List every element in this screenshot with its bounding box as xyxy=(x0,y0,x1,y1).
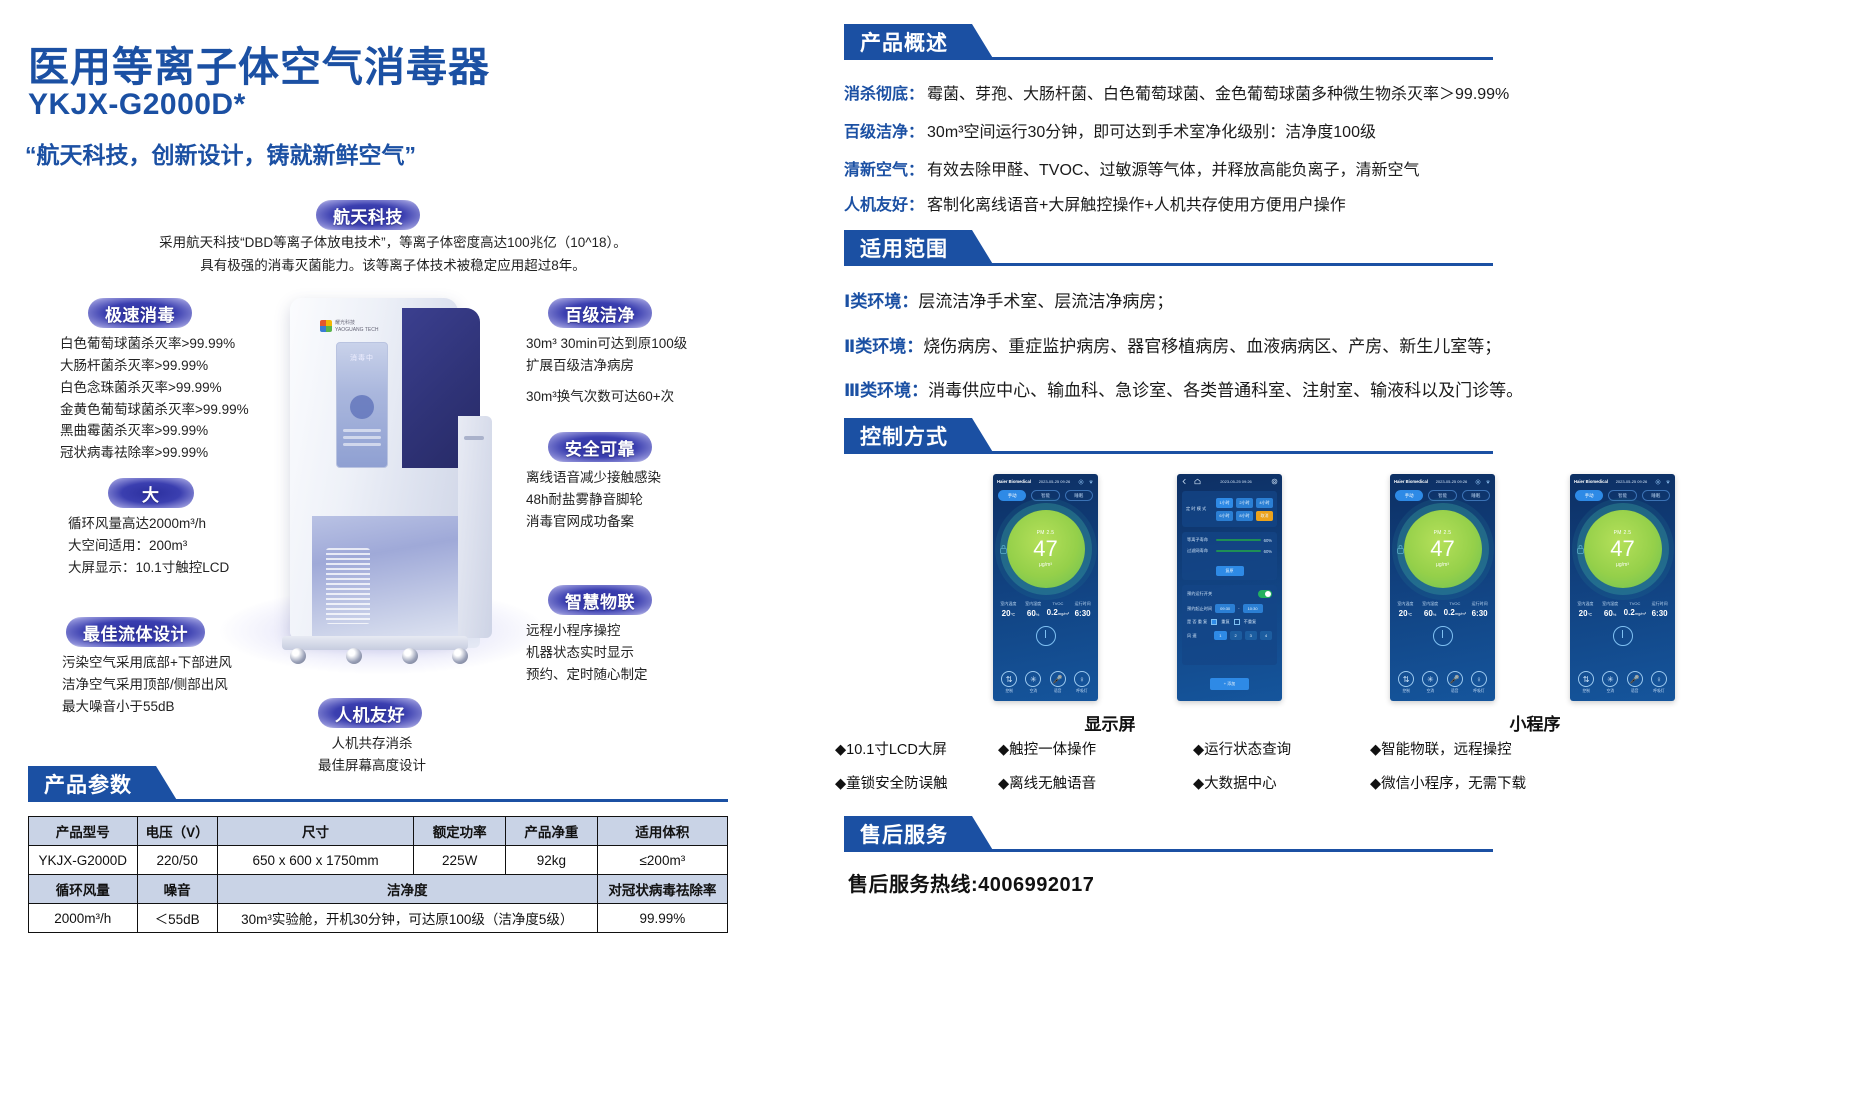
params-table: 产品型号 电压（V） 尺寸 额定功率 产品净重 适用体积 YKJX-G2000D… xyxy=(28,816,728,933)
sterilize-icon[interactable]: ✳ xyxy=(1025,671,1041,687)
table-row: YKJX-G2000D 220/50 650 x 600 x 1750mm 22… xyxy=(29,846,728,875)
fan-level-2[interactable]: 2 xyxy=(1230,631,1242,640)
table-row: 产品型号 电压（V） 尺寸 额定功率 产品净重 适用体积 xyxy=(29,817,728,846)
device-screen-title: 消毒中 xyxy=(337,353,387,363)
feature-line: 大屏显示：10.1寸触控LCD xyxy=(68,557,229,579)
hero-line-1: 采用航天科技“DBD等离子体放电技术”，等离子体密度高达100兆亿（10^18）… xyxy=(128,232,658,255)
action-breathing-lamp[interactable]: ♀呼吸灯 xyxy=(1467,671,1491,694)
wifi-icon xyxy=(1485,479,1491,485)
overview-row: 消杀彻底：霉菌、芽孢、大肠杆菌、白色葡萄球菌、金色葡萄球菌多种微生物杀灭率＞99… xyxy=(844,80,1509,104)
lamp-icon[interactable]: ♀ xyxy=(1471,671,1487,687)
action-label: 呼吸灯 xyxy=(1473,689,1484,694)
fan-level-3[interactable]: 3 xyxy=(1245,631,1257,640)
plasma-life-value: 60% xyxy=(1264,538,1272,543)
feature-line: 污染空气采用底部+下部进风 xyxy=(62,652,232,674)
timer-option-4h[interactable]: 4小时 xyxy=(1256,498,1273,508)
bullet-touch-operation: ◆触控一体操作 xyxy=(998,738,1096,759)
reset-button[interactable]: 复原 xyxy=(1216,566,1244,576)
feature-line: 预约、定时随心制定 xyxy=(526,664,648,686)
gear-icon[interactable] xyxy=(1475,479,1481,485)
metric-unit: mg/m³ xyxy=(1635,611,1646,616)
tablet-status-icons xyxy=(1655,479,1671,485)
metric-label: 室内湿度 xyxy=(1418,601,1443,607)
action-label: 空消 xyxy=(1030,689,1038,694)
metric-value: 60 xyxy=(1424,609,1433,618)
feature-list-smart-iot: 远程小程序操控 机器状态实时显示 预约、定时随心制定 xyxy=(526,620,648,686)
overview-text: 30m³空间运行30分钟，即可达到手术室净化级别：洁净度100级 xyxy=(927,124,1376,141)
tab-sleep[interactable]: 睡眠 xyxy=(1462,490,1490,501)
left-panel: 医用等离子体空气消毒器 YKJX-G2000D* “航天科技，创新设计，铸就新鲜… xyxy=(0,0,812,1112)
repeat-label: 是 否 重 复 xyxy=(1187,619,1207,625)
scope-row: Ⅲ类环境：消毒供应中心、输血科、急诊室、各类普通科室、注射室、输液科以及门诊等。 xyxy=(844,376,1523,401)
microphone-icon[interactable]: 🎤 xyxy=(1447,671,1463,687)
time-from-input[interactable]: 09:30 xyxy=(1215,604,1235,613)
lamp-icon[interactable]: ♀ xyxy=(1074,671,1090,687)
action-label: 语音 xyxy=(1451,689,1459,694)
section-tag-params: 产品参数 xyxy=(28,766,156,802)
brand-name-en: YAOGUANG TECH xyxy=(335,327,378,334)
gear-icon[interactable] xyxy=(1271,478,1278,485)
metric-runtime: 运行时间6:30 xyxy=(1070,601,1095,618)
metric-unit: mg/m³ xyxy=(1455,611,1466,616)
table-header-cell: 尺寸 xyxy=(217,817,414,846)
device-body: 耀光科技 YAOGUANG TECH 消毒中 xyxy=(290,298,458,638)
action-control[interactable]: ⇅控制 xyxy=(1394,671,1418,694)
checkbox-no-repeat[interactable] xyxy=(1234,619,1240,625)
metric-value: 0.2 xyxy=(1444,608,1455,617)
table-row: 2000m³/h ＜55dB 30m³实验舱，开机30分钟，可达原100级（洁净… xyxy=(29,904,728,933)
metric-value: 0.2 xyxy=(1047,608,1058,617)
tablet-brand: Haier Biomedical xyxy=(1574,479,1608,484)
tablet-status-bar: Haier Biomedical 2023-05-25 09:26 xyxy=(997,477,1094,486)
power-button[interactable] xyxy=(1036,626,1056,646)
tablet-status-icons xyxy=(1078,479,1094,485)
service-hotline: 售后服务热线:4006992017 xyxy=(848,868,1094,897)
action-breathing-lamp[interactable]: ♀呼吸灯 xyxy=(1647,671,1671,694)
action-control[interactable]: ⇅控制 xyxy=(997,671,1021,694)
section-rule-scope xyxy=(988,263,1493,266)
metric-label: 室内温度 xyxy=(996,601,1021,607)
section-rule-params xyxy=(172,799,728,802)
section-rule-control xyxy=(988,451,1493,454)
tablet-time: 2023-05-25 09:26 xyxy=(1436,479,1468,484)
tablet-action-buttons[interactable]: ⇅控制 ✳空消 🎤语音 ♀呼吸灯 xyxy=(997,671,1094,694)
tablet-action-buttons[interactable]: ⇅控制 ✳空消 🎤语音 ♀呼吸灯 xyxy=(1574,671,1671,694)
bullet-remote-iot: ◆智能物联，远程操控 xyxy=(1370,738,1512,759)
feature-line: 最大噪音小于55dB xyxy=(62,696,232,718)
brand-logo-text: 耀光科技 YAOGUANG TECH xyxy=(335,320,378,333)
timer-option-2h[interactable]: 2小时 xyxy=(1236,498,1253,508)
tablet-brand: Haier Biomedical xyxy=(1394,479,1428,484)
device-screen-rows xyxy=(343,429,381,450)
feature-line: 冠状病毒祛除率>99.99% xyxy=(60,442,249,464)
filter-life-value: 60% xyxy=(1264,549,1272,554)
fan-level-4[interactable]: 4 xyxy=(1260,631,1272,640)
tab-smart[interactable]: 智能 xyxy=(1428,490,1456,501)
tablet-time: 2023-05-25 09:26 xyxy=(1039,479,1071,484)
tab-sleep[interactable]: 睡眠 xyxy=(1642,490,1670,501)
tablet-mode-tabs[interactable]: 手动 智能 睡眠 xyxy=(1575,490,1670,501)
tablet-metrics: 室内温度20℃ 室内湿度60% TVOC0.2mg/m³ 运行时间6:30 xyxy=(996,601,1095,618)
table-cell: 99.99% xyxy=(597,904,727,933)
tablet-mode-tabs[interactable]: 手动 智能 睡眠 xyxy=(998,490,1093,501)
feature-line: 机器状态实时显示 xyxy=(526,642,648,664)
table-header-cell: 产品净重 xyxy=(506,817,598,846)
action-label: 空消 xyxy=(1607,689,1615,694)
badge-human-friendly: 人机友好 xyxy=(318,698,422,728)
timer-option-8h[interactable]: 8小时 xyxy=(1236,511,1253,521)
feature-list-safe-reliable: 离线语音减少接触感染 48h耐盐雾静音脚轮 消毒官网成功备案 xyxy=(526,467,661,533)
miniprogram-screen-2[interactable]: Haier Biomedical 2023-05-25 09:26 手动 智能 … xyxy=(1570,474,1675,701)
table-header-cell: 产品型号 xyxy=(29,817,138,846)
tablet-brand: Haier Biomedical xyxy=(997,479,1031,484)
action-air-sterilize[interactable]: ✳空消 xyxy=(1598,671,1622,694)
tab-manual[interactable]: 手动 xyxy=(1575,490,1603,501)
overview-row: 百级洁净：30m³空间运行30分钟，即可达到手术室净化级别：洁净度100级 xyxy=(844,118,1376,142)
table-header-cell: 循环风量 xyxy=(29,875,138,904)
feature-line: 48h耐盐雾静音脚轮 xyxy=(526,489,661,511)
feature-line: 扩展百级洁净病房 xyxy=(526,355,687,377)
table-cell: 92kg xyxy=(506,846,598,875)
overview-label: 人机友好： xyxy=(844,197,924,214)
metric-value: 20 xyxy=(1399,609,1408,618)
device-screen: 消毒中 xyxy=(336,342,388,468)
caster-wheel xyxy=(290,648,306,664)
tab-manual[interactable]: 手动 xyxy=(1395,490,1423,501)
table-cell: 2000m³/h xyxy=(29,904,138,933)
section-rule-service xyxy=(988,849,1493,852)
action-label: 语音 xyxy=(1054,689,1062,694)
pm25-unit: μg/m³ xyxy=(1039,562,1052,568)
feature-line: 消毒官网成功备案 xyxy=(526,511,661,533)
pm25-value: 47 xyxy=(1610,538,1634,560)
sterilize-icon[interactable]: ✳ xyxy=(1422,671,1438,687)
action-label: 呼吸灯 xyxy=(1653,689,1664,694)
tablet-mode-tabs[interactable]: 手动 智能 睡眠 xyxy=(1395,490,1490,501)
table-header-cell: 电压（V） xyxy=(137,817,217,846)
metric-label: 运行时间 xyxy=(1070,601,1095,607)
metric-label: 室内湿度 xyxy=(1598,601,1623,607)
metric-indoor-humidity: 室内湿度60% xyxy=(1598,601,1623,618)
tablet-status-bar: Haier Biomedical 2023-05-25 09:26 xyxy=(1574,477,1671,486)
metric-unit: ℃ xyxy=(1408,612,1413,617)
scope-text: 消毒供应中心、输血科、急诊室、各类普通科室、注射室、输液科以及门诊等。 xyxy=(928,381,1523,400)
microphone-icon[interactable]: 🎤 xyxy=(1050,671,1066,687)
badge-large: 大 xyxy=(108,478,194,508)
timer-mode-card: 定 时 模 式 1小时 2小时 4小时 6小时 8小时 取消 xyxy=(1182,491,1277,527)
wifi-icon xyxy=(1665,479,1671,485)
action-label: 呼吸灯 xyxy=(1076,689,1087,694)
timer-option-6h[interactable]: 6小时 xyxy=(1216,511,1233,521)
badge-aerospace: 航天科技 xyxy=(316,200,420,230)
table-cell: YKJX-G2000D xyxy=(29,846,138,875)
overview-label: 百级洁净： xyxy=(844,124,924,141)
action-voice[interactable]: 🎤语音 xyxy=(1623,671,1647,694)
metric-runtime: 运行时间6:30 xyxy=(1647,601,1672,618)
action-label: 控制 xyxy=(1402,689,1410,694)
scope-label: Ⅱ类环境： xyxy=(844,337,923,356)
feature-line: 白色葡萄球菌杀灭率>99.99% xyxy=(60,333,249,355)
back-icon[interactable] xyxy=(1181,478,1188,485)
tab-smart[interactable]: 智能 xyxy=(1608,490,1636,501)
power-button[interactable] xyxy=(1613,626,1633,646)
power-button[interactable] xyxy=(1433,626,1453,646)
metric-unit: % xyxy=(1613,612,1617,617)
overview-label: 清新空气： xyxy=(844,162,924,179)
action-label: 控制 xyxy=(1582,689,1590,694)
section-tag-service: 售后服务 xyxy=(844,816,972,852)
metric-value: 20 xyxy=(1579,609,1588,618)
table-header-cell: 噪音 xyxy=(137,875,217,904)
feature-line: 洁净空气采用顶部/侧部出风 xyxy=(62,674,232,696)
device-handle xyxy=(464,436,484,440)
checkbox-repeat[interactable] xyxy=(1211,619,1217,625)
overview-label: 消杀彻底： xyxy=(844,86,924,103)
schedule-time-label: 预约起止时间 xyxy=(1187,606,1212,612)
tab-sleep[interactable]: 睡眠 xyxy=(1065,490,1093,501)
brochure-page: 医用等离子体空气消毒器 YKJX-G2000D* “航天科技，创新设计，铸就新鲜… xyxy=(0,0,1850,1112)
section-tag-control: 控制方式 xyxy=(844,418,972,454)
action-voice[interactable]: 🎤语音 xyxy=(1046,671,1070,694)
scope-row: Ⅰ类环境：层流洁净手术室、层流洁净病房； xyxy=(844,287,1173,312)
pm25-unit: μg/m³ xyxy=(1436,562,1449,568)
scope-text: 层流洁净手术室、层流洁净病房； xyxy=(918,292,1173,311)
metric-value: 6:30 xyxy=(1652,609,1668,618)
plasma-life-label: 等离子寿命 xyxy=(1187,537,1213,543)
filter-life-label: 过滤网寿命 xyxy=(1187,548,1213,554)
scope-label: Ⅰ类环境： xyxy=(844,292,918,311)
feature-list-human-friendly: 人机共存消杀 最佳屏幕高度设计 xyxy=(262,733,482,777)
feature-line: 白色念珠菌杀灭率>99.99% xyxy=(60,377,249,399)
metric-runtime: 运行时间6:30 xyxy=(1467,601,1492,618)
bullet-offline-voice: ◆离线无触语音 xyxy=(998,772,1096,793)
device-side-panel xyxy=(458,416,492,638)
metric-label: TVOC xyxy=(1046,601,1071,606)
settings-status-bar: 2023-05-25 09:26 xyxy=(1181,477,1278,486)
overview-row: 人机友好：客制化离线语音+大屏触控操作+人机共存使用方便用户操作 xyxy=(844,191,1346,215)
table-cell: 225W xyxy=(414,846,506,875)
metric-tvoc: TVOC0.2mg/m³ xyxy=(1623,601,1648,618)
badge-safe-reliable: 安全可靠 xyxy=(548,432,652,462)
badge-smart-iot: 智慧物联 xyxy=(548,585,652,615)
metric-value: 20 xyxy=(1002,609,1011,618)
schedule-card: 预约运行开关 预约起止时间 09:30 - 10:30 是 否 重 复 重复 不… xyxy=(1182,585,1277,665)
metric-indoor-temp: 室内温度20℃ xyxy=(1573,601,1598,618)
badge-rapid-disinfection: 极速消毒 xyxy=(88,298,192,328)
caster-wheel xyxy=(346,648,362,664)
product-image: 耀光科技 YAOGUANG TECH 消毒中 xyxy=(268,288,498,678)
brand-logo-icon xyxy=(320,320,332,332)
timer-option-cancel[interactable]: 取消 xyxy=(1256,511,1273,521)
caster-wheel xyxy=(402,648,418,664)
action-control[interactable]: ⇅控制 xyxy=(1574,671,1598,694)
bullet-big-data: ◆大数据中心 xyxy=(1193,772,1277,793)
tablet-status-bar: Haier Biomedical 2023-05-25 09:26 xyxy=(1394,477,1491,486)
scope-row: Ⅱ类环境：烧伤病房、重症监护病房、器官移植病房、血液病病区、产房、新生儿室等； xyxy=(844,332,1501,357)
badge-class100-clean: 百级洁净 xyxy=(548,298,652,328)
table-header-cell: 对冠状病毒祛除率 xyxy=(597,875,727,904)
pm25-value: 47 xyxy=(1430,538,1454,560)
tablet-time: 2023-05-25 09:26 xyxy=(1616,479,1648,484)
slogan: “航天科技，创新设计，铸就新鲜空气” xyxy=(25,136,416,170)
consumable-life-card: 等离子寿命 60% 过滤网寿命 60% 复原 xyxy=(1182,532,1277,580)
feature-line: 金黄色葡萄球菌杀灭率>99.99% xyxy=(60,399,249,421)
action-label: 控制 xyxy=(1005,689,1013,694)
scope-label: Ⅲ类环境： xyxy=(844,381,928,400)
device-base xyxy=(282,636,468,650)
pm25-gauge: PM 2.5 47 μg/m³ xyxy=(1404,510,1482,588)
metric-value: 0.2 xyxy=(1624,608,1635,617)
gear-icon[interactable] xyxy=(1078,479,1084,485)
metric-tvoc: TVOC0.2mg/m³ xyxy=(1443,601,1468,618)
wifi-icon xyxy=(1088,479,1094,485)
metric-label: 室内温度 xyxy=(1573,601,1598,607)
table-cell: 30m³实验舱，开机30分钟，可达原100级（洁净度5级） xyxy=(217,904,597,933)
bullet-wechat-mini: ◆微信小程序，无需下载 xyxy=(1370,772,1526,793)
section-tag-scope: 适用范围 xyxy=(844,230,972,266)
action-air-sterilize[interactable]: ✳空消 xyxy=(1418,671,1442,694)
table-cell: ≤200m³ xyxy=(597,846,727,875)
metric-value: 6:30 xyxy=(1472,609,1488,618)
feature-list-class100-clean: 30m³ 30min可达到原100级 扩展百级洁净病房 30m³换气次数可达60… xyxy=(526,333,687,408)
microphone-icon[interactable]: 🎤 xyxy=(1627,671,1643,687)
table-cell: ＜55dB xyxy=(137,904,217,933)
device-air-vent xyxy=(326,548,370,624)
feature-list-large: 循环风量高达2000m³/h 大空间适用：200m³ 大屏显示：10.1寸触控L… xyxy=(68,513,229,579)
metric-tvoc: TVOC0.2mg/m³ xyxy=(1046,601,1071,618)
tab-smart[interactable]: 智能 xyxy=(1031,490,1059,501)
metric-indoor-humidity: 室内湿度60% xyxy=(1418,601,1443,618)
action-voice[interactable]: 🎤语音 xyxy=(1443,671,1467,694)
bullet-lcd-screen: ◆10.1寸LCD大屏 xyxy=(835,738,947,759)
metric-indoor-temp: 室内温度20℃ xyxy=(1393,601,1418,618)
pm25-value: 47 xyxy=(1033,538,1057,560)
action-label: 空消 xyxy=(1427,689,1435,694)
timer-option-1h[interactable]: 1小时 xyxy=(1216,498,1233,508)
metric-unit: % xyxy=(1433,612,1437,617)
repeat-no-label: 不重复 xyxy=(1244,619,1257,625)
settings-time: 2023-05-25 09:26 xyxy=(1207,479,1265,484)
pm25-gauge: PM 2.5 47 μg/m³ xyxy=(1584,510,1662,588)
feature-line: 大肠杆菌杀灭率>99.99% xyxy=(60,355,249,377)
fan-speed-label: 风 速 xyxy=(1187,633,1211,639)
bullet-status-query: ◆运行状态查询 xyxy=(1193,738,1291,759)
tablet-status-icons xyxy=(1475,479,1491,485)
feature-line: 人机共存消杀 xyxy=(262,733,482,755)
timer-mode-label: 定 时 模 式 xyxy=(1186,507,1212,512)
miniprogram-screen-1[interactable]: Haier Biomedical 2023-05-25 09:26 手动 智能 … xyxy=(1390,474,1495,701)
badge-fluid-design: 最佳流体设计 xyxy=(66,617,205,647)
metric-label: TVOC xyxy=(1623,601,1648,606)
scope-text: 烧伤病房、重症监护病房、器官移植病房、血液病病区、产房、新生儿室等； xyxy=(923,337,1501,356)
hero-line-2: 具有极强的消毒灭菌能力。该等离子体技术被稳定应用超过8年。 xyxy=(128,255,658,278)
tab-manual[interactable]: 手动 xyxy=(998,490,1026,501)
metric-label: 运行时间 xyxy=(1467,601,1492,607)
metric-label: 室内温度 xyxy=(1393,601,1418,607)
feature-line: 远程小程序操控 xyxy=(526,620,648,642)
metric-label: TVOC xyxy=(1443,601,1468,606)
caster-wheel xyxy=(452,648,468,664)
metric-value: 60 xyxy=(1604,609,1613,618)
feature-line: 黑曲霉菌杀灭率>99.99% xyxy=(60,420,249,442)
table-header-cell: 额定功率 xyxy=(414,817,506,846)
metric-value: 60 xyxy=(1027,609,1036,618)
time-to-input[interactable]: 10:30 xyxy=(1243,604,1263,613)
table-header-cell: 适用体积 xyxy=(597,817,727,846)
fan-level-1[interactable]: 1 xyxy=(1214,631,1226,640)
schedule-switch-label: 预约运行开关 xyxy=(1187,591,1212,597)
sliders-icon[interactable]: ⇅ xyxy=(1578,671,1594,687)
plasma-life-bar xyxy=(1216,539,1261,541)
feature-line: 30m³换气次数可达60+次 xyxy=(526,386,687,408)
metric-indoor-humidity: 室内湿度60% xyxy=(1021,601,1046,618)
filter-life-bar xyxy=(1216,550,1261,552)
sliders-icon[interactable]: ⇅ xyxy=(1398,671,1414,687)
table-cell: 220/50 xyxy=(137,846,217,875)
page-title: 医用等离子体空气消毒器 xyxy=(28,33,490,93)
caption-display: 显示屏 xyxy=(970,710,1250,735)
sterilize-icon[interactable]: ✳ xyxy=(1602,671,1618,687)
section-rule-overview xyxy=(988,57,1493,60)
overview-row: 清新空气：有效去除甲醛、TVOC、过敏源等气体，并释放高能负离子，清新空气 xyxy=(844,156,1419,180)
display-screen-home[interactable]: Haier Biomedical 2023-05-25 09:26 手动 智能 … xyxy=(993,474,1098,701)
metric-unit: ℃ xyxy=(1588,612,1593,617)
action-label: 语音 xyxy=(1631,689,1639,694)
hero-description: 采用航天科技“DBD等离子体放电技术”，等离子体密度高达100兆亿（10^18）… xyxy=(128,232,658,277)
metric-unit: % xyxy=(1036,612,1040,617)
display-screen-settings[interactable]: 2023-05-25 09:26 定 时 模 式 1小时 2小时 4小时 6小时… xyxy=(1177,474,1282,701)
feature-list-rapid-disinfection: 白色葡萄球菌杀灭率>99.99% 大肠杆菌杀灭率>99.99% 白色念珠菌杀灭率… xyxy=(60,333,249,464)
table-row: 循环风量 噪音 洁净度 对冠状病毒祛除率 xyxy=(29,875,728,904)
tablet-metrics: 室内温度20℃ 室内湿度60% TVOC0.2mg/m³ 运行时间6:30 xyxy=(1393,601,1492,618)
overview-text: 霉菌、芽孢、大肠杆菌、白色葡萄球菌、金色葡萄球菌多种微生物杀灭率＞99.99% xyxy=(927,86,1509,103)
caption-miniprogram: 小程序 xyxy=(1390,710,1680,735)
home-icon[interactable] xyxy=(1194,478,1201,485)
feature-line: 大空间适用：200m³ xyxy=(68,535,229,557)
feature-line: 离线语音减少接触感染 xyxy=(526,467,661,489)
add-schedule-button[interactable]: + 添加 xyxy=(1210,678,1249,690)
gear-icon[interactable] xyxy=(1655,479,1661,485)
lamp-icon[interactable]: ♀ xyxy=(1651,671,1667,687)
feature-line: 30m³ 30min可达到原100级 xyxy=(526,333,687,355)
metric-label: 运行时间 xyxy=(1647,601,1672,607)
overview-text: 有效去除甲醛、TVOC、过敏源等气体，并释放高能负离子，清新空气 xyxy=(927,162,1419,179)
pm25-unit: μg/m³ xyxy=(1616,562,1629,568)
action-air-sterilize[interactable]: ✳空消 xyxy=(1021,671,1045,694)
metric-indoor-temp: 室内温度20℃ xyxy=(996,601,1021,618)
section-tag-overview: 产品概述 xyxy=(844,24,972,60)
tablet-metrics: 室内温度20℃ 室内湿度60% TVOC0.2mg/m³ 运行时间6:30 xyxy=(1573,601,1672,618)
device-screen-dial xyxy=(350,395,374,419)
schedule-toggle[interactable] xyxy=(1258,590,1272,598)
overview-text: 客制化离线语音+大屏触控操作+人机共存使用方便用户操作 xyxy=(927,197,1346,214)
tablet-action-buttons[interactable]: ⇅控制 ✳空消 🎤语音 ♀呼吸灯 xyxy=(1394,671,1491,694)
action-breathing-lamp[interactable]: ♀呼吸灯 xyxy=(1070,671,1094,694)
metric-unit: mg/m³ xyxy=(1058,611,1069,616)
table-cell: 650 x 600 x 1750mm xyxy=(217,846,414,875)
feature-line: 循环风量高达2000m³/h xyxy=(68,513,229,535)
model-number: YKJX-G2000D* xyxy=(28,88,246,122)
right-panel: 产品概述 消杀彻底：霉菌、芽孢、大肠杆菌、白色葡萄球菌、金色葡萄球菌多种微生物杀… xyxy=(830,0,1850,1112)
metric-unit: ℃ xyxy=(1011,612,1016,617)
metric-value: 6:30 xyxy=(1075,609,1091,618)
table-header-cell: 洁净度 xyxy=(217,875,597,904)
feature-list-fluid-design: 污染空气采用底部+下部进风 洁净空气采用顶部/侧部出风 最大噪音小于55dB xyxy=(62,652,232,718)
sliders-icon[interactable]: ⇅ xyxy=(1001,671,1017,687)
pm25-gauge: PM 2.5 47 μg/m³ xyxy=(1007,510,1085,588)
feature-line: 最佳屏幕高度设计 xyxy=(262,755,482,777)
bullet-child-lock: ◆童锁安全防误触 xyxy=(835,772,948,793)
